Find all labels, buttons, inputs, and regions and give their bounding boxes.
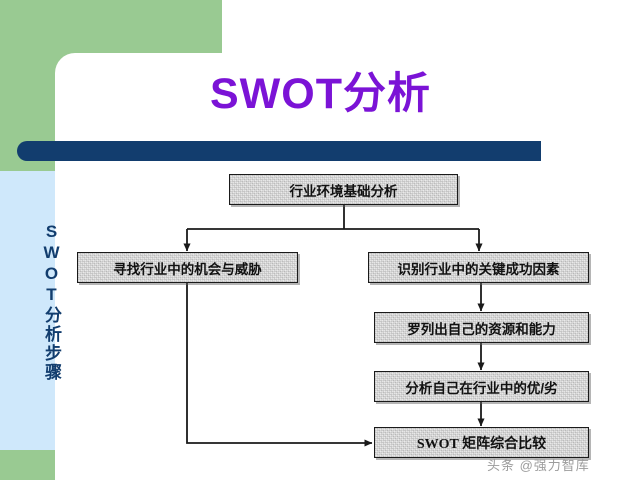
flow-node-left[interactable]: 寻找行业中的机会与威胁 xyxy=(77,252,298,283)
edge-left-to-bot xyxy=(187,283,372,443)
flow-node-r2[interactable]: 罗列出自己的资源和能力 xyxy=(374,312,589,343)
watermark-text: 头条 @强力智库 xyxy=(487,455,590,474)
flow-node-r1[interactable]: 识别行业中的关键成功因素 xyxy=(368,252,589,283)
flow-node-r3[interactable]: 分析自己在行业中的优/劣 xyxy=(374,371,589,402)
slide-canvas: SWOT分析 SWOT分析步骤 行业环境基础分析 寻找 xyxy=(0,0,640,480)
flow-node-top[interactable]: 行业环境基础分析 xyxy=(229,174,458,205)
flowchart-connectors xyxy=(0,0,640,480)
flow-node-bot[interactable]: SWOT 矩阵综合比较 xyxy=(374,427,589,458)
